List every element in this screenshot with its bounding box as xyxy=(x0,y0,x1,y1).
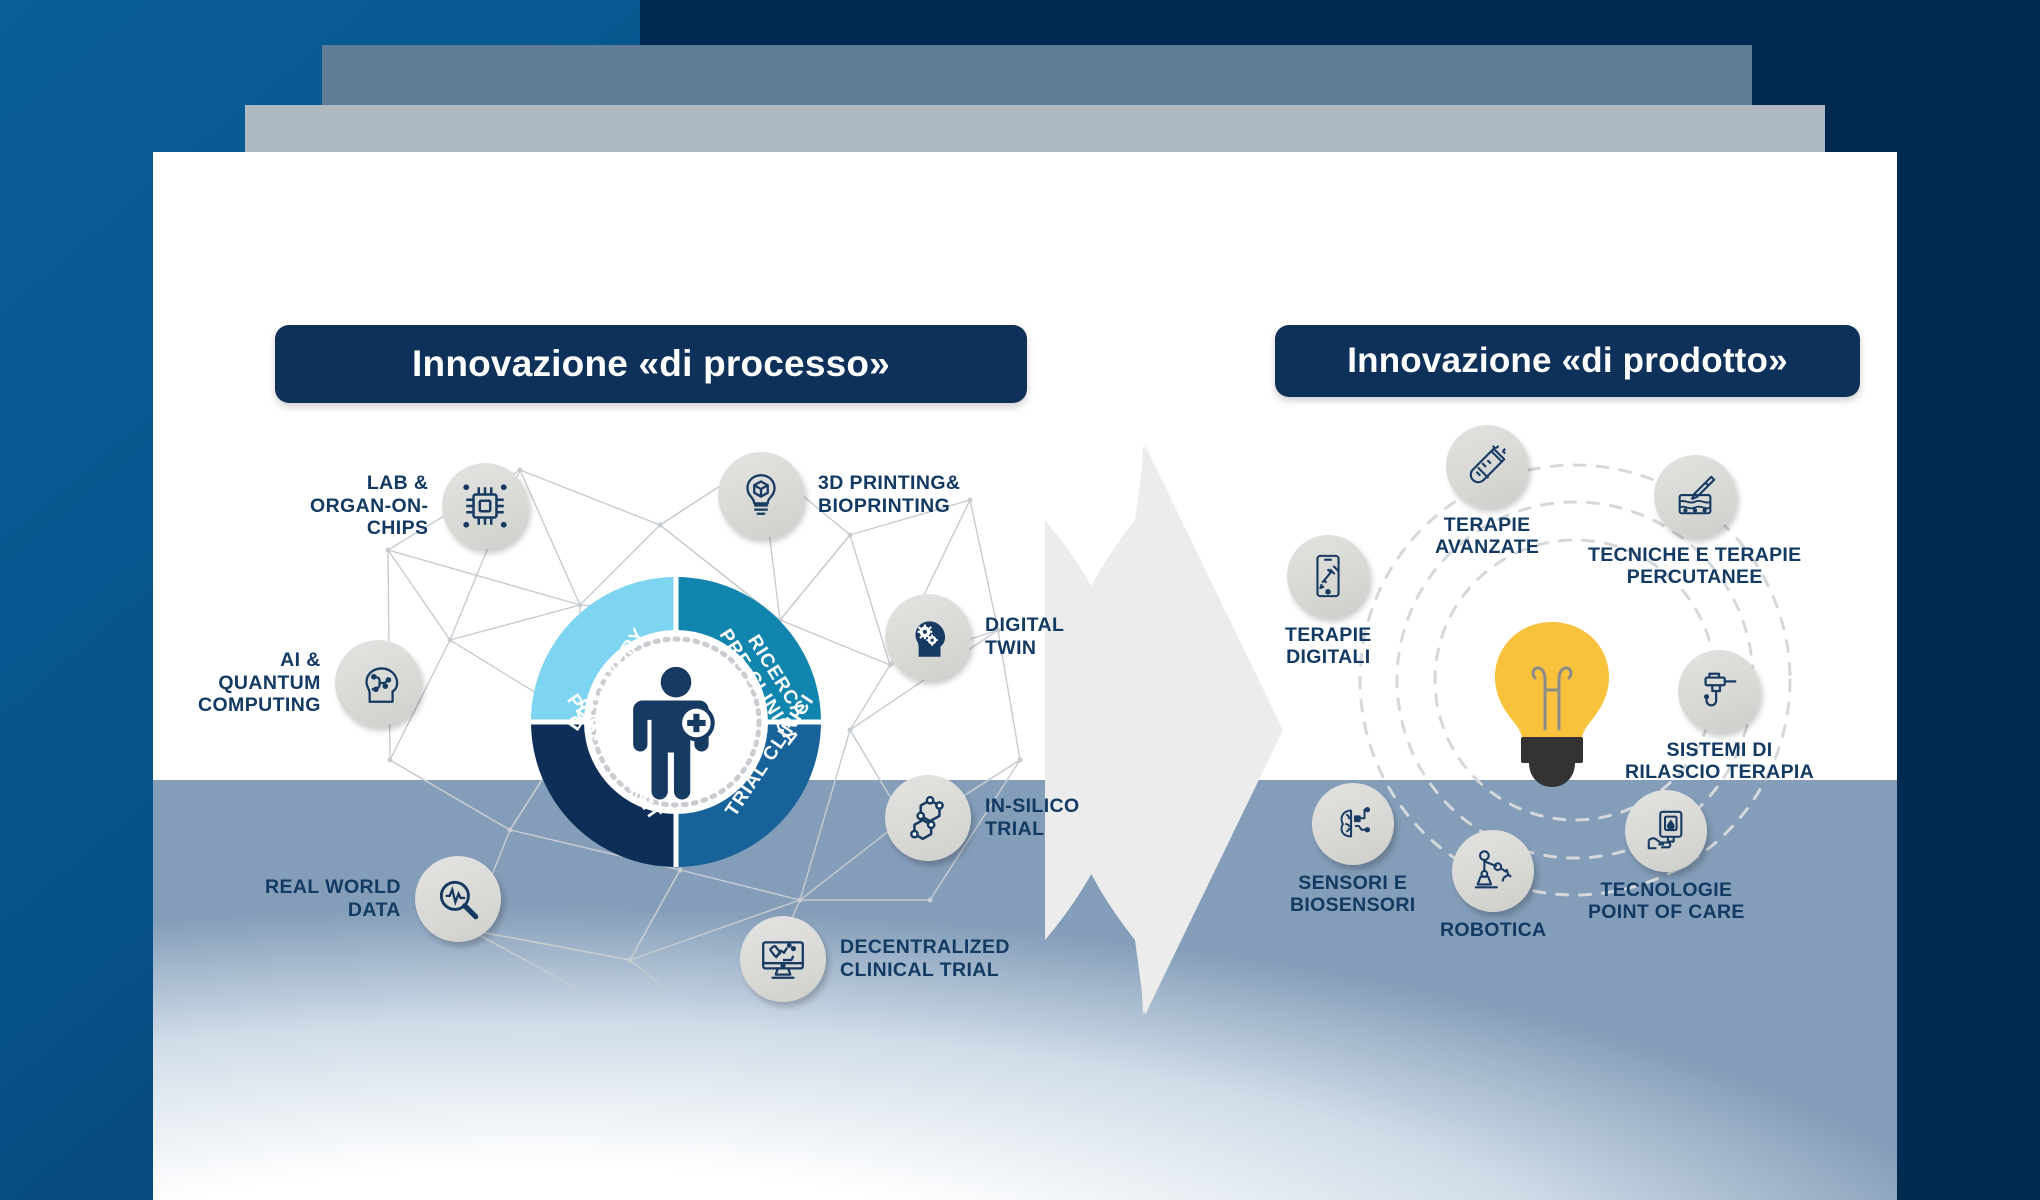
product-panel-header: Innovazione «di prodotto» xyxy=(1275,325,1860,397)
product-node-terapie-digitali[interactable]: TERAPIE DIGITALI xyxy=(1285,535,1372,668)
molecule-icon xyxy=(885,775,971,861)
process-node-digital-twin[interactable]: DIGITAL TWIN xyxy=(885,594,1064,680)
product-panel-title: Innovazione «di prodotto» xyxy=(1347,341,1788,381)
product-node-label: SISTEMI DI RILASCIO TERAPIA xyxy=(1625,739,1814,783)
process-node-ai-quantum-computing[interactable]: AI & QUANTUM COMPUTING xyxy=(198,640,421,726)
product-node-label: TECNOLOGIE POINT OF CARE xyxy=(1588,879,1745,923)
yellow-lightbulb-icon xyxy=(1477,618,1627,803)
brain-circuit-head-icon xyxy=(335,640,421,726)
process-node-label: LAB & ORGAN-ON- CHIPS xyxy=(310,472,428,540)
process-node-3d-printing-bioprinting[interactable]: 3D PRINTING& BIOPRINTING xyxy=(718,452,960,538)
brain-sensor-icon xyxy=(1312,783,1394,865)
test-tube-icon xyxy=(1446,425,1528,507)
product-node-label: TERAPIE AVANZATE xyxy=(1435,514,1539,558)
process-node-lab-organ-on-chips[interactable]: LAB & ORGAN-ON- CHIPS xyxy=(310,463,528,549)
product-node-sistemi-rilascio-terapia[interactable]: SISTEMI DI RILASCIO TERAPIA xyxy=(1625,650,1814,783)
head-gears-icon xyxy=(885,594,971,680)
product-node-terapie-avanzate[interactable]: TERAPIE AVANZATE xyxy=(1435,425,1539,558)
magnifier-pulse-icon xyxy=(415,856,501,942)
skin-needle-icon xyxy=(1654,455,1736,537)
drug-delivery-device-icon xyxy=(1678,650,1760,732)
process-panel-title: Innovazione «di processo» xyxy=(412,343,890,385)
robotic-arm-icon xyxy=(1452,830,1534,912)
product-node-label: ROBOTICA xyxy=(1440,919,1546,941)
handheld-diagnostic-icon xyxy=(1625,790,1707,872)
lightbulb-cube-icon xyxy=(718,452,804,538)
process-node-label: AI & QUANTUM COMPUTING xyxy=(198,649,321,717)
product-node-label: TERAPIE DIGITALI xyxy=(1285,624,1372,668)
process-node-label: DIGITAL TWIN xyxy=(985,614,1064,659)
product-node-robotica[interactable]: ROBOTICA xyxy=(1440,830,1546,941)
process-node-label: IN-SILICO TRIAL xyxy=(985,795,1080,840)
product-node-sensori-biosensori[interactable]: SENSORI E BIOSENSORI xyxy=(1290,783,1415,916)
slide-stage: Innovazione «di processo» Innovazione «d… xyxy=(0,0,2040,1200)
process-lifecycle-wheel: DISCOVERY RICERCA PRE-CLINICA TRIAL CLIN… xyxy=(531,577,821,867)
microchip-icon xyxy=(442,463,528,549)
process-node-in-silico-trial[interactable]: IN-SILICO TRIAL xyxy=(885,775,1080,861)
smartphone-syringe-icon xyxy=(1287,535,1369,617)
product-node-label: TECNICHE E TERAPIE PERCUTANEE xyxy=(1588,544,1801,588)
process-node-real-world-data[interactable]: REAL WORLD DATA xyxy=(265,856,501,942)
process-panel-header: Innovazione «di processo» xyxy=(275,325,1027,403)
product-node-tecnologie-point-of-care[interactable]: TECNOLOGIE POINT OF CARE xyxy=(1588,790,1745,923)
process-node-label: REAL WORLD DATA xyxy=(265,876,401,921)
product-node-tecniche-terapie-percutanee[interactable]: TECNICHE E TERAPIE PERCUTANEE xyxy=(1588,455,1801,588)
monitor-robotic-arm-icon xyxy=(740,916,826,1002)
process-node-decentralized-clinical-trial[interactable]: DECENTRALIZED CLINICAL TRIAL xyxy=(740,916,1010,1002)
process-node-label: 3D PRINTING& BIOPRINTING xyxy=(818,472,960,517)
product-node-label: SENSORI E BIOSENSORI xyxy=(1290,872,1415,916)
process-node-label: DECENTRALIZED CLINICAL TRIAL xyxy=(840,936,1010,981)
